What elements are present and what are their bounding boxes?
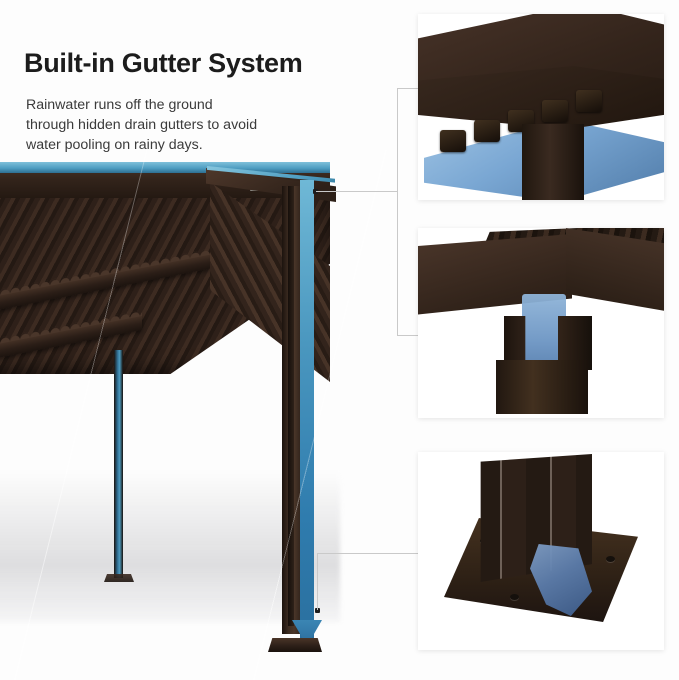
rear-support-post	[114, 350, 123, 578]
gutter-teal-highlight-front	[0, 162, 330, 173]
water-flow-arrow-shaft	[300, 180, 314, 648]
front-corner-post-shadow	[288, 186, 294, 626]
page-title: Built-in Gutter System	[24, 48, 302, 79]
louver-end-clip	[440, 130, 466, 152]
inset-gutter-corner	[418, 14, 664, 200]
corner-post-section	[522, 124, 584, 200]
gutter-corner-closeup-art	[418, 14, 664, 200]
rear-post-base-plate	[104, 574, 134, 582]
front-post-base-plate	[268, 638, 322, 652]
base-plate-closeup-art	[418, 452, 664, 650]
anchor-hole	[606, 556, 615, 562]
inset-base-plate	[418, 452, 664, 650]
connector-line-base-horizontal	[317, 553, 421, 554]
connector-line-base-vertical	[317, 553, 318, 610]
post-lower-section	[496, 360, 588, 414]
anchor-hole	[510, 594, 519, 600]
louver-end-clip	[474, 120, 500, 142]
connector-line-roof-horizontal	[316, 191, 398, 192]
infographic-canvas: Built-in Gutter System Rainwater runs of…	[0, 0, 679, 680]
pergola-illustration	[0, 150, 400, 680]
connector-line-roof-vertical	[397, 88, 398, 336]
inset-downspout	[418, 228, 664, 418]
louver-end-clip	[542, 100, 568, 122]
description-line-2: through hidden drain gutters to avoid	[26, 115, 326, 135]
description-line-1: Rainwater runs off the ground	[26, 95, 326, 115]
description-text: Rainwater runs off the ground through hi…	[26, 95, 326, 155]
louver-end-clip	[576, 90, 602, 112]
downspout-closeup-art	[418, 228, 664, 418]
